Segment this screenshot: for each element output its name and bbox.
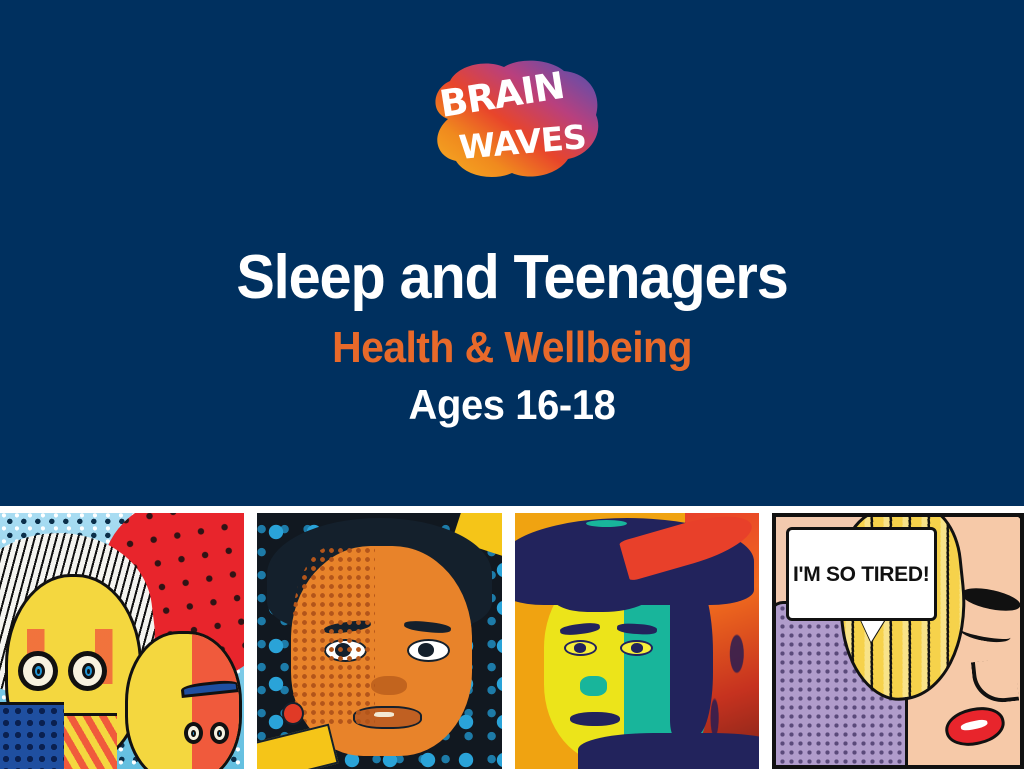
eye-iris — [82, 663, 95, 679]
red-earring — [282, 702, 304, 725]
headband — [180, 679, 239, 698]
brain-waves-logo: BRAIN WAVES — [412, 55, 612, 183]
teen-girl-face — [125, 631, 242, 769]
subject-subtitle: Health & Wellbeing — [36, 319, 988, 377]
panel-elderly-and-teen-women — [0, 513, 244, 769]
image-strip: I'M SO TIRED! — [0, 513, 1024, 769]
blue-dotted-garment — [0, 702, 64, 769]
nose — [371, 676, 407, 695]
lips — [570, 712, 620, 726]
panel-teen-girl-looking-up — [257, 513, 501, 769]
shoulder — [578, 733, 759, 769]
eyebrow-left — [323, 619, 371, 636]
panel-teen-boy-with-cap — [515, 513, 759, 769]
eye-iris — [32, 663, 45, 679]
speech-bubble-text: I'M SO TIRED! — [793, 562, 929, 587]
girl-face — [291, 546, 472, 756]
eyebrow — [960, 584, 1020, 615]
pupil — [418, 643, 435, 657]
glasses-left-lens — [18, 651, 57, 691]
lips — [942, 702, 1008, 751]
page-title: Sleep and Teenagers — [36, 243, 988, 313]
brain-logo-icon: BRAIN WAVES — [412, 55, 612, 183]
glasses-right-lens — [68, 651, 107, 691]
age-range-label: Ages 16-18 — [26, 379, 999, 431]
panel-sleeping-woman-comic: I'M SO TIRED! — [772, 513, 1024, 769]
nose — [971, 657, 1019, 704]
glasses-left-lens — [184, 722, 203, 744]
lips — [353, 706, 422, 729]
eyebrow-left — [560, 622, 601, 637]
eye-right — [407, 639, 450, 662]
eye-iris — [217, 730, 222, 737]
eye-iris — [191, 730, 196, 737]
hero-band: BRAIN WAVES Sleep and Teenagers Health &… — [0, 0, 1024, 506]
speech-bubble: I'M SO TIRED! — [786, 527, 937, 621]
glasses-right-lens — [210, 722, 229, 744]
nose — [580, 676, 607, 696]
title-slide: BRAIN WAVES Sleep and Teenagers Health &… — [0, 0, 1024, 769]
comic-panel-inner: I'M SO TIRED! — [776, 517, 1020, 765]
title-block: Sleep and Teenagers Health & Wellbeing A… — [0, 243, 1024, 431]
eye-left — [324, 639, 367, 662]
eye-left — [564, 640, 597, 656]
closed-eye-lashes — [958, 620, 1012, 645]
pupil — [335, 643, 352, 657]
eyebrow-right — [403, 619, 451, 634]
cap-logo-patch — [586, 520, 627, 527]
